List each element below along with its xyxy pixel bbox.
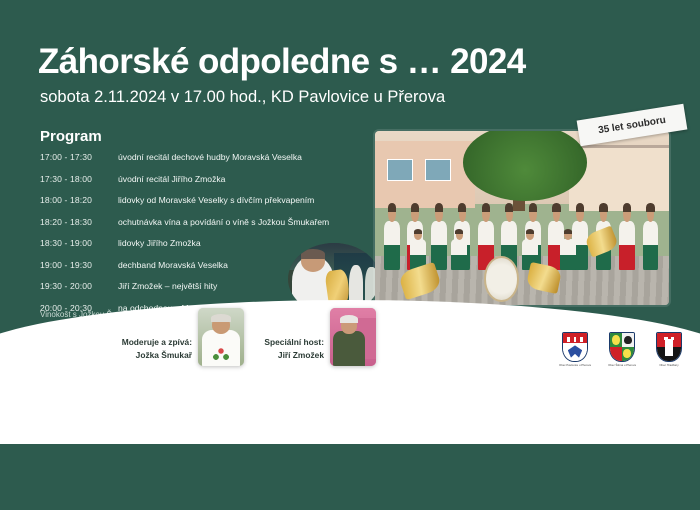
program-desc: úvodní recitál Jiřího Zmožka <box>118 174 225 184</box>
program-time: 18:00 - 18:20 <box>40 195 118 205</box>
band-member <box>431 197 447 270</box>
coat-of-arms-icon <box>656 332 682 362</box>
program-desc: ochutnávka vína a povídání o víně s Jožk… <box>118 217 329 227</box>
coat-of-arms-icon <box>562 332 588 362</box>
program-time: 19:30 - 20:00 <box>40 281 118 291</box>
page-title: Záhorské odpoledne s … 2024 <box>38 42 526 82</box>
host-role: Moderuje a zpívá: <box>122 337 192 347</box>
header-panel: Záhorské odpoledne s … 2024 sobota 2.11.… <box>0 0 700 336</box>
host-role: Speciální host: <box>264 337 324 347</box>
host-name: Jiří Zmožek <box>228 349 324 362</box>
host-label-zmozek: Speciální host: Jiří Zmožek <box>228 336 324 361</box>
program-desc: úvodní recitál dechové hudby Moravská Ve… <box>118 152 302 162</box>
portrait-jiri-zmozek <box>330 308 376 366</box>
event-subtitle: sobota 2.11.2024 v 17.00 hod., KD Pavlov… <box>40 88 445 107</box>
host-name: Jožka Šmukař <box>88 349 192 362</box>
anniversary-label: 35 let souboru <box>597 114 666 136</box>
program-desc: Jiří Zmožek – největší hity <box>118 281 217 291</box>
program-desc: lidovky Jiřího Zmožka <box>118 238 201 248</box>
sponsor-logo-band: Moravská VESELKA z pilnou písničkou MAS … <box>0 378 700 440</box>
band-group-photo <box>375 131 669 305</box>
band-member <box>643 197 659 270</box>
program-row: 17:30 - 18:00 úvodní recitál Jiřího Zmož… <box>40 174 385 196</box>
band-member <box>410 225 426 270</box>
band-member <box>451 225 467 270</box>
crest-item: Obec Šišma u Přerova <box>603 332 641 368</box>
program-time: 18:30 - 19:00 <box>40 238 118 248</box>
program-row: 18:00 - 18:20 lidovky od Moravské Veselk… <box>40 195 385 217</box>
band-member <box>619 197 635 270</box>
municipal-crests: Obec Pavlovice u Přerova Obec Šišma u Př… <box>556 332 688 368</box>
program-time: 19:00 - 19:30 <box>40 260 118 270</box>
crest-label: Obec Pavlovice u Přerova <box>558 364 593 367</box>
program-heading: Program <box>40 128 102 145</box>
band-member <box>560 225 576 270</box>
program-desc: lidovky od Moravské Veselky s dívčím pře… <box>118 195 314 205</box>
crest-label: Obec Hradčany <box>652 364 687 367</box>
host-label-smukar: Moderuje a zpívá: Jožka Šmukař <box>88 336 192 361</box>
program-time: 17:00 - 17:30 <box>40 152 118 162</box>
coat-of-arms-icon <box>609 332 635 362</box>
band-member <box>384 197 400 270</box>
poster-root: Záhorské odpoledne s … 2024 sobota 2.11.… <box>0 0 700 510</box>
program-time: 17:30 - 18:00 <box>40 174 118 184</box>
program-time: 18:20 - 18:30 <box>40 217 118 227</box>
crest-item: Obec Pavlovice u Přerova <box>556 332 594 368</box>
footer-bar: Veškeré aktuální podrobné informace nale… <box>0 444 700 510</box>
program-desc: dechband Moravská Veselka <box>118 260 228 270</box>
crest-item: Obec Hradčany <box>650 332 688 368</box>
program-row: 17:00 - 17:30 úvodní recitál dechové hud… <box>40 152 385 174</box>
crest-label: Obec Šišma u Přerova <box>605 364 640 367</box>
program-row: 18:20 - 18:30 ochutnávka vína a povídání… <box>40 217 385 239</box>
